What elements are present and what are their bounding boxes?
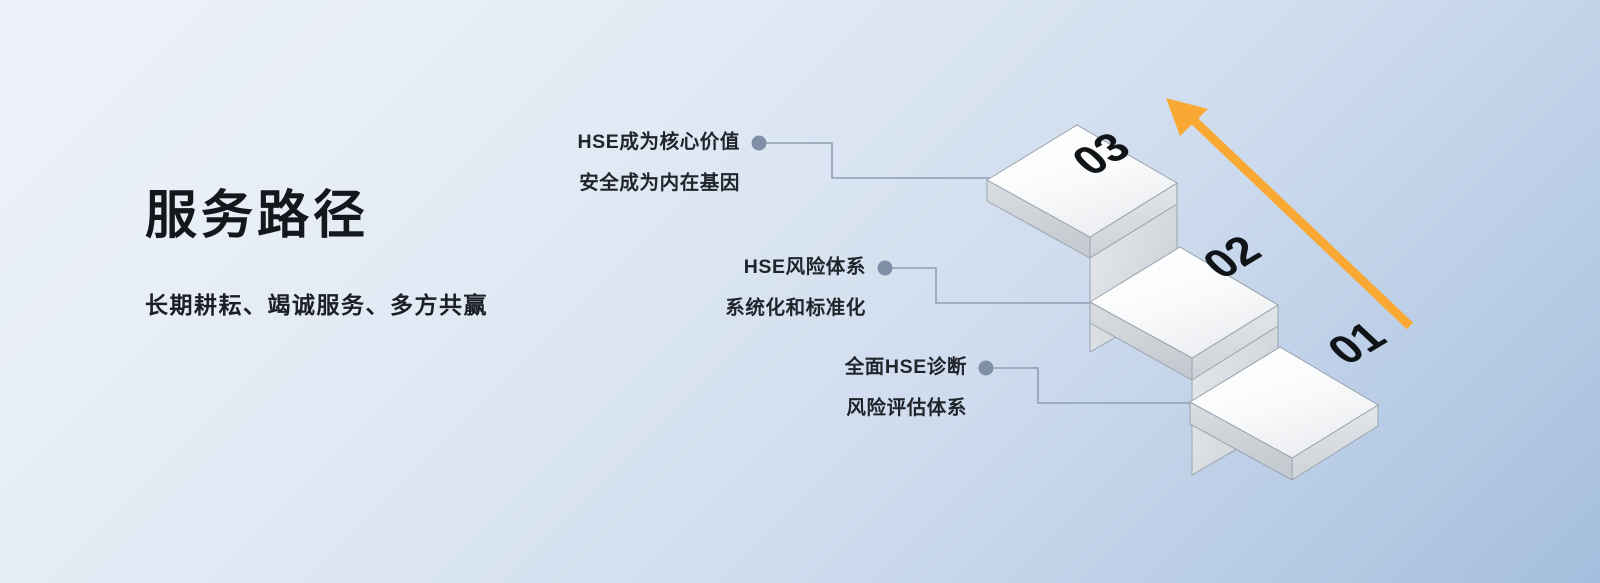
connector-dot-step-02 [878, 261, 893, 276]
connector-line-step-03 [766, 143, 990, 178]
annotation-step-01: 全面HSE诊断 风险评估体系 [527, 358, 967, 418]
connector-dot-step-01 [979, 361, 994, 376]
annotation-step-03-line1: HSE成为核心价值 [300, 133, 740, 153]
annotation-step-02-line2: 系统化和标准化 [426, 278, 866, 319]
connector-dot-step-03 [752, 136, 767, 151]
annotation-step-02: HSE风险体系 系统化和标准化 [426, 258, 866, 318]
annotation-step-01-line1: 全面HSE诊断 [527, 358, 967, 378]
annotation-step-02-line1: HSE风险体系 [426, 258, 866, 278]
slide-canvas: 03 02 01 服务路径 长期耕耘、竭诚服务、多方共赢 HSE成为核心 [0, 0, 1600, 583]
annotation-step-01-line2: 风险评估体系 [527, 378, 967, 419]
annotation-step-03: HSE成为核心价值 安全成为内在基因 [300, 133, 740, 193]
annotation-step-03-line2: 安全成为内在基因 [300, 153, 740, 194]
page-title: 服务路径 [145, 186, 705, 247]
step-01-number: 01 [1316, 313, 1396, 374]
connector-line-step-01 [993, 368, 1192, 403]
